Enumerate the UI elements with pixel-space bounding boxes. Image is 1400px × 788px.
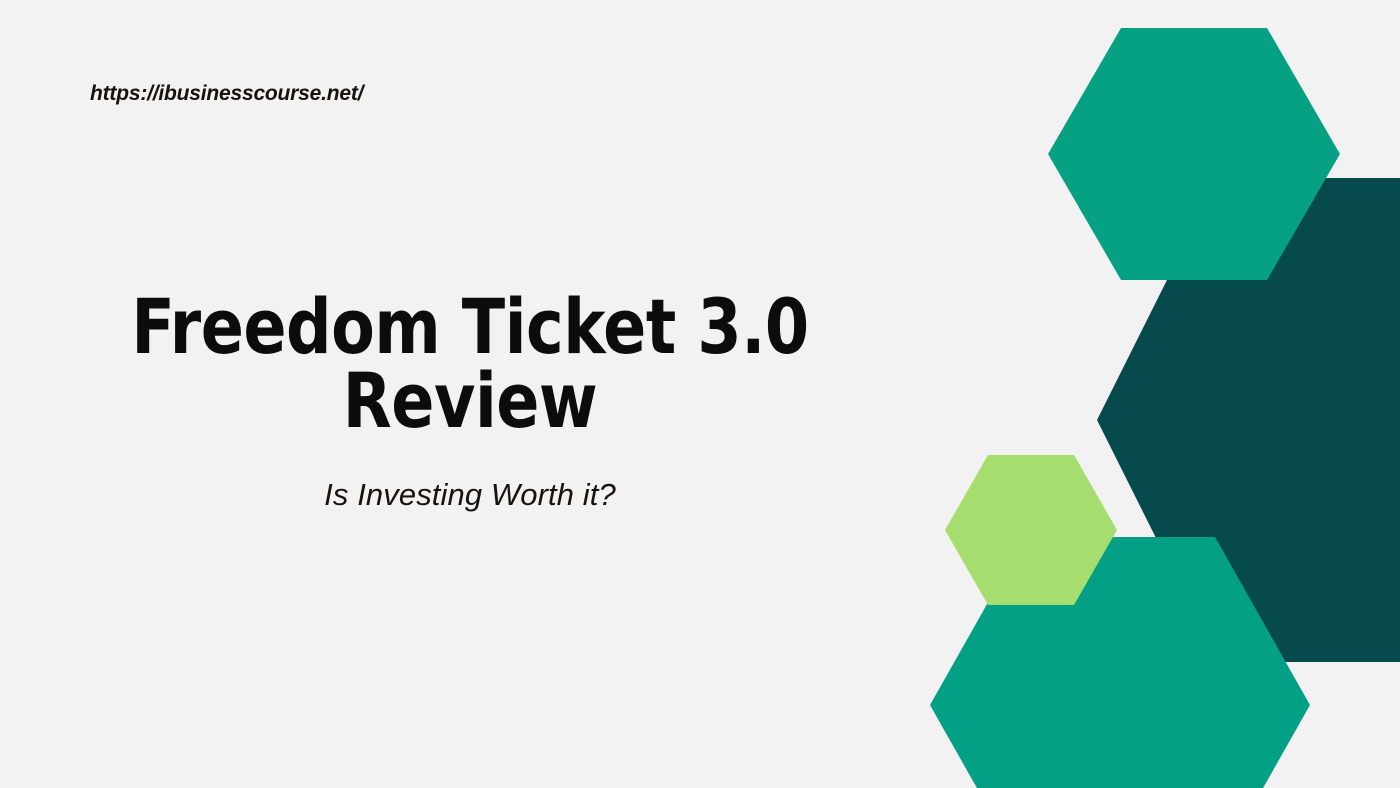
site-url-label: https://ibusinesscourse.net/ <box>90 82 363 106</box>
hexagon-dark-teal-shape <box>1097 178 1400 662</box>
hexagon-green-top-shape <box>1048 28 1340 280</box>
hexagon-lime-shape <box>945 455 1117 605</box>
slide-text-block: Freedom Ticket 3.0 Review Is Investing W… <box>80 290 860 513</box>
hexagon-green-bottom-shape <box>930 537 1310 788</box>
page-title: Freedom Ticket 3.0 Review <box>107 290 832 439</box>
presentation-slide: https://ibusinesscourse.net/ Freedom Tic… <box>0 0 1400 788</box>
page-subtitle: Is Investing Worth it? <box>80 477 860 513</box>
